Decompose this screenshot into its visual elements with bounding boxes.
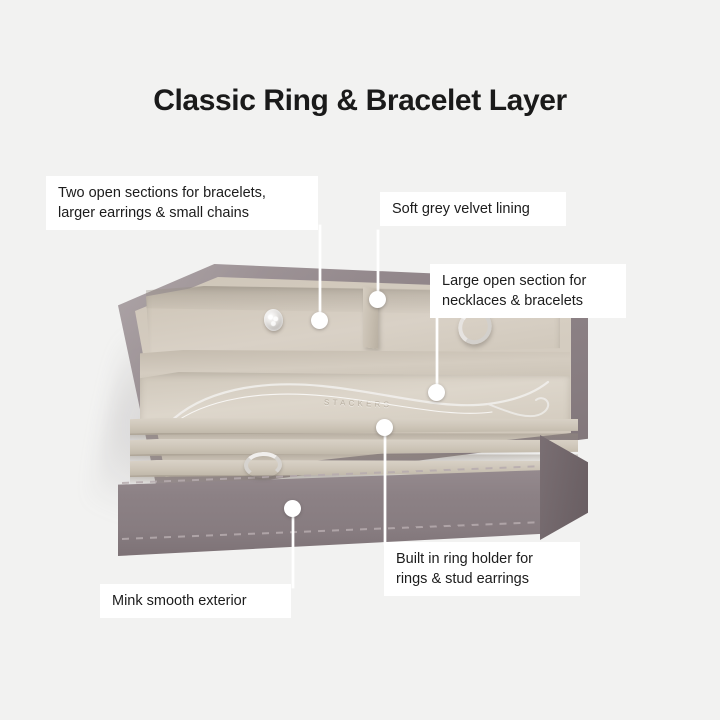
infographic-canvas: Classic Ring & Bracelet Layer STACKERS bbox=[0, 0, 720, 720]
callout-dot-ring-holder[interactable] bbox=[376, 419, 393, 436]
callout-dot-large-open-section[interactable] bbox=[428, 384, 445, 401]
callout-dot-mink-exterior[interactable] bbox=[284, 500, 301, 517]
callout-leader-line-large-open-section bbox=[436, 312, 438, 391]
callout-leader-line-mink-exterior bbox=[292, 508, 294, 588]
ring-rail bbox=[130, 418, 578, 435]
callout-dot-velvet-lining[interactable] bbox=[369, 291, 386, 308]
callout-leader-line-two-open-sections bbox=[319, 225, 321, 320]
callout-label-mink-exterior: Mink smooth exterior bbox=[100, 584, 291, 618]
callout-label-large-open-section: Large open section for necklaces & brace… bbox=[430, 264, 626, 318]
callout-label-two-open-sections: Two open sections for bracelets, larger … bbox=[46, 176, 318, 230]
callout-label-ring-holder: Built in ring holder for rings & stud ea… bbox=[384, 542, 580, 596]
callout-leader-line-ring-holder bbox=[384, 427, 386, 545]
ring-rail bbox=[130, 439, 578, 456]
callout-leader-line-velvet-lining bbox=[377, 230, 379, 298]
callout-label-velvet-lining: Soft grey velvet lining bbox=[380, 192, 566, 226]
right-leather-panel bbox=[540, 435, 588, 540]
callout-dot-two-open-sections[interactable] bbox=[311, 312, 328, 329]
